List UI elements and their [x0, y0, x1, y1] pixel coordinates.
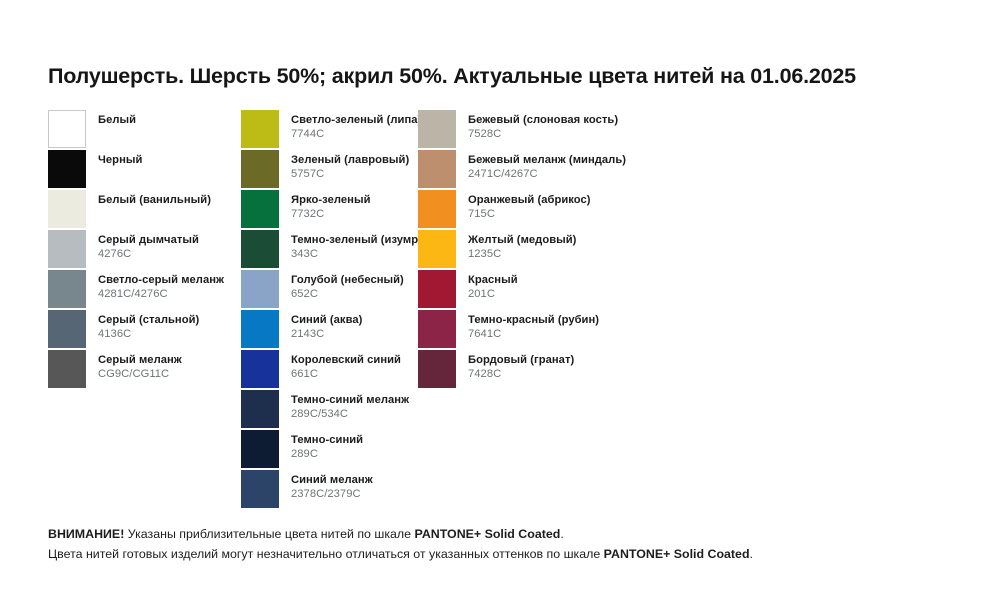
swatch-pantone-code: 7641C	[468, 328, 599, 341]
swatch-row: Голубой (небесный)652C	[241, 270, 421, 310]
swatch-text: Королевский синий661C	[291, 350, 401, 381]
color-swatch	[418, 150, 456, 188]
swatch-row: Светло-зеленый (липа)7744C	[241, 110, 421, 150]
swatch-pantone-code: 4281C/4276C	[98, 288, 224, 301]
swatch-pantone-code: 7732C	[291, 208, 371, 221]
swatch-column-1: БелыйЧерныйБелый (ванильный)Серый дымчат…	[48, 110, 248, 390]
swatch-text: Желтый (медовый)1235C	[468, 230, 576, 261]
swatch-row: Белый	[48, 110, 248, 150]
swatch-name: Темно-красный (рубин)	[468, 314, 599, 327]
swatch-name: Черный	[98, 154, 142, 167]
color-swatch	[241, 390, 279, 428]
swatch-name: Красный	[468, 274, 518, 287]
swatch-name: Бежевый (слоновая кость)	[468, 114, 618, 127]
swatch-row: Белый (ванильный)	[48, 190, 248, 230]
swatch-text: Светло-зеленый (липа)7744C	[291, 110, 421, 141]
color-swatch	[48, 110, 86, 148]
swatch-name: Королевский синий	[291, 354, 401, 367]
color-swatch	[48, 150, 86, 188]
swatch-pantone-code: 7528C	[468, 128, 618, 141]
swatch-pantone-code: 289C/534C	[291, 408, 409, 421]
swatch-name: Бордовый (гранат)	[468, 354, 574, 367]
swatch-text: Темно-красный (рубин)7641C	[468, 310, 599, 341]
swatch-name: Темно-синий меланж	[291, 394, 409, 407]
footer-line-2: Цвета нитей готовых изделий могут незнач…	[48, 544, 948, 564]
color-swatch	[48, 310, 86, 348]
swatch-row: Желтый (медовый)1235C	[418, 230, 618, 270]
color-swatch	[241, 270, 279, 308]
swatch-text: Белый (ванильный)	[98, 190, 211, 207]
swatch-text: Ярко-зеленый7732C	[291, 190, 371, 221]
swatch-pantone-code: 4136C	[98, 328, 199, 341]
color-swatch	[418, 310, 456, 348]
swatch-text: Серый (стальной)4136C	[98, 310, 199, 341]
swatch-row: Серый дымчатый4276C	[48, 230, 248, 270]
swatch-row: Красный201C	[418, 270, 618, 310]
swatch-row: Темно-зеленый (изумруд)343C	[241, 230, 421, 270]
swatch-text: Черный	[98, 150, 142, 167]
swatch-name: Синий (аква)	[291, 314, 362, 327]
color-swatch	[241, 150, 279, 188]
swatch-text: Белый	[98, 110, 136, 127]
footer-line-2-tail: .	[750, 547, 753, 561]
footer-pantone-label-2: PANTONE+ Solid Coated	[604, 547, 750, 561]
swatch-pantone-code: 652C	[291, 288, 404, 301]
swatch-name: Зеленый (лавровый)	[291, 154, 409, 167]
color-swatch	[241, 110, 279, 148]
swatch-text: Синий меланж2378C/2379C	[291, 470, 373, 501]
swatch-row: Синий (аква)2143C	[241, 310, 421, 350]
color-swatch	[241, 190, 279, 228]
swatch-text: Темно-синий меланж289C/534C	[291, 390, 409, 421]
swatch-name: Серый дымчатый	[98, 234, 199, 247]
swatch-name: Темно-зеленый (изумруд)	[291, 234, 435, 247]
swatch-pantone-code: 715C	[468, 208, 591, 221]
swatch-row: Королевский синий661C	[241, 350, 421, 390]
swatch-pantone-code: 7744C	[291, 128, 421, 141]
swatch-name: Ярко-зеленый	[291, 194, 371, 207]
color-swatch	[241, 310, 279, 348]
page-title: Полушерсть. Шерсть 50%; акрил 50%. Актуа…	[48, 64, 856, 89]
color-swatch	[241, 430, 279, 468]
swatch-text: Темно-синий289C	[291, 430, 363, 461]
swatch-pantone-code: 201C	[468, 288, 518, 301]
swatch-name: Белый	[98, 114, 136, 127]
swatch-pantone-code: 289C	[291, 448, 363, 461]
footer-pantone-label-1: PANTONE+ Solid Coated	[414, 527, 560, 541]
swatch-text: Бежевый меланж (миндаль)2471C/4267C	[468, 150, 626, 181]
swatch-text: Бежевый (слоновая кость)7528C	[468, 110, 618, 141]
swatch-name: Серый меланж	[98, 354, 182, 367]
footer-line-1-tail: .	[560, 527, 563, 541]
swatch-row: Ярко-зеленый7732C	[241, 190, 421, 230]
swatch-text: Синий (аква)2143C	[291, 310, 362, 341]
swatch-row: Серый (стальной)4136C	[48, 310, 248, 350]
swatch-text: Голубой (небесный)652C	[291, 270, 404, 301]
color-swatch	[418, 190, 456, 228]
swatch-name: Бежевый меланж (миндаль)	[468, 154, 626, 167]
swatch-row: Темно-красный (рубин)7641C	[418, 310, 618, 350]
swatch-row: Оранжевый (абрикос)715C	[418, 190, 618, 230]
color-chart-page: Полушерсть. Шерсть 50%; акрил 50%. Актуа…	[0, 0, 1000, 609]
swatch-column-3: Бежевый (слоновая кость)7528CБежевый мел…	[418, 110, 618, 390]
color-swatch	[48, 190, 86, 228]
color-swatch	[241, 470, 279, 508]
swatch-text: Светло-серый меланж4281C/4276C	[98, 270, 224, 301]
swatch-row: Бежевый (слоновая кость)7528C	[418, 110, 618, 150]
color-swatch	[48, 350, 86, 388]
color-swatch	[418, 230, 456, 268]
swatch-text: Серый дымчатый4276C	[98, 230, 199, 261]
swatch-name: Синий меланж	[291, 474, 373, 487]
swatch-text: Оранжевый (абрикос)715C	[468, 190, 591, 221]
swatch-row: Серый меланжCG9C/CG11C	[48, 350, 248, 390]
swatch-name: Темно-синий	[291, 434, 363, 447]
swatch-row: Темно-синий меланж289C/534C	[241, 390, 421, 430]
footer-attention-label: ВНИМАНИЕ!	[48, 527, 124, 541]
swatch-name: Светло-зеленый (липа)	[291, 114, 421, 127]
swatch-pantone-code: 4276C	[98, 248, 199, 261]
swatch-column-2: Светло-зеленый (липа)7744CЗеленый (лавро…	[241, 110, 421, 510]
swatch-name: Желтый (медовый)	[468, 234, 576, 247]
swatch-row: Черный	[48, 150, 248, 190]
swatch-pantone-code: 1235C	[468, 248, 576, 261]
swatch-text: Темно-зеленый (изумруд)343C	[291, 230, 435, 261]
color-swatch	[241, 230, 279, 268]
swatch-row: Темно-синий289C	[241, 430, 421, 470]
swatch-pantone-code: 7428C	[468, 368, 574, 381]
swatch-pantone-code: 2471C/4267C	[468, 168, 626, 181]
swatch-name: Серый (стальной)	[98, 314, 199, 327]
swatch-name: Светло-серый меланж	[98, 274, 224, 287]
swatch-row: Зеленый (лавровый)5757C	[241, 150, 421, 190]
footer-line-1-text: Указаны приблизительные цвета нитей по ш…	[124, 527, 414, 541]
swatch-text: Бордовый (гранат)7428C	[468, 350, 574, 381]
color-swatch	[48, 270, 86, 308]
swatch-pantone-code: 661C	[291, 368, 401, 381]
footer-line-2-text: Цвета нитей готовых изделий могут незнач…	[48, 547, 604, 561]
swatch-pantone-code: 343C	[291, 248, 435, 261]
swatch-name: Белый (ванильный)	[98, 194, 211, 207]
color-swatch	[418, 110, 456, 148]
swatch-row: Бежевый меланж (миндаль)2471C/4267C	[418, 150, 618, 190]
swatch-row: Бордовый (гранат)7428C	[418, 350, 618, 390]
swatch-pantone-code: 5757C	[291, 168, 409, 181]
color-swatch	[418, 350, 456, 388]
swatch-text: Зеленый (лавровый)5757C	[291, 150, 409, 181]
swatch-name: Голубой (небесный)	[291, 274, 404, 287]
color-swatch	[48, 230, 86, 268]
footer-note: ВНИМАНИЕ! Указаны приблизительные цвета …	[48, 524, 948, 564]
swatch-pantone-code: CG9C/CG11C	[98, 368, 182, 381]
footer-line-1: ВНИМАНИЕ! Указаны приблизительные цвета …	[48, 524, 948, 544]
color-swatch	[241, 350, 279, 388]
color-swatch	[418, 270, 456, 308]
swatch-name: Оранжевый (абрикос)	[468, 194, 591, 207]
swatch-row: Светло-серый меланж4281C/4276C	[48, 270, 248, 310]
swatch-pantone-code: 2143C	[291, 328, 362, 341]
swatch-pantone-code: 2378C/2379C	[291, 488, 373, 501]
swatch-text: Красный201C	[468, 270, 518, 301]
swatch-row: Синий меланж2378C/2379C	[241, 470, 421, 510]
swatch-text: Серый меланжCG9C/CG11C	[98, 350, 182, 381]
